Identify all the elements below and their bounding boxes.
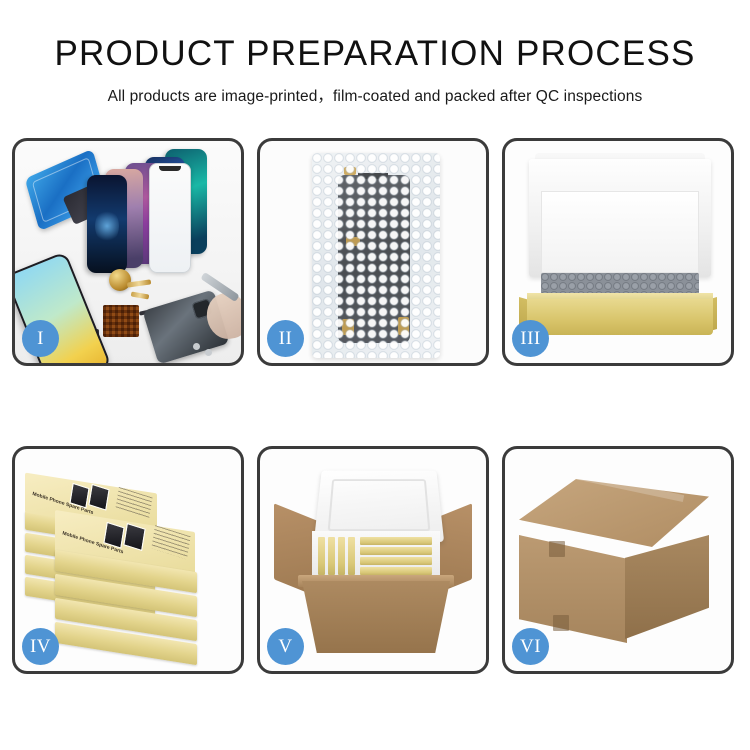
step-panel-5[interactable]: V	[257, 446, 489, 674]
box-thumbnail-4	[123, 523, 145, 551]
carton-front-face-icon	[519, 535, 627, 643]
speaker-coil-icon	[109, 269, 131, 291]
step-badge-1: I	[22, 320, 59, 357]
step-badge-5: V	[267, 628, 304, 665]
step-panel-3[interactable]: III	[502, 138, 734, 366]
box-stack-group: Mobile Phone Spare Parts Mobile Phone Sp…	[23, 465, 233, 661]
page-title: PRODUCT PREPARATION PROCESS	[0, 36, 750, 73]
bubble-wrap-bag-icon	[312, 153, 440, 358]
packed-box-8	[360, 567, 432, 575]
phone-fan-group	[87, 147, 237, 277]
packed-box-2	[328, 537, 335, 575]
carton-tape-2-icon	[553, 615, 569, 631]
step-panel-6[interactable]: VI	[502, 446, 734, 674]
packed-box-6	[360, 547, 432, 555]
step-badge-2: II	[267, 320, 304, 357]
packed-box-1	[318, 537, 325, 575]
packed-box-3	[338, 537, 345, 575]
carton-top-face-icon	[519, 479, 709, 547]
bubble-texture	[312, 153, 440, 358]
step-panel-4[interactable]: Mobile Phone Spare Parts Mobile Phone Sp…	[12, 446, 244, 674]
page-header: PRODUCT PREPARATION PROCESS All products…	[0, 0, 750, 106]
box-spec-lines-upper	[115, 487, 152, 519]
packed-box-5	[360, 537, 432, 545]
carton-side-face-icon	[625, 535, 709, 639]
packed-box-4	[348, 537, 355, 575]
carton-tape-1-icon	[549, 541, 565, 557]
screw-2-icon	[205, 349, 212, 356]
step-panel-1[interactable]: I	[12, 138, 244, 366]
kraft-box-body-icon	[527, 299, 713, 335]
copper-grid-icon	[103, 305, 139, 337]
screen-protector-icon	[149, 163, 191, 273]
foam-sheet-icon	[541, 191, 699, 273]
box-spec-lines-front	[151, 525, 190, 559]
box-thumbnail-2	[88, 484, 109, 511]
step-badge-4: IV	[22, 628, 59, 665]
gold-connector-2-icon	[131, 291, 150, 299]
styrofoam-liner-icon	[312, 531, 440, 579]
page-subtitle: All products are image-printed，film-coat…	[0, 84, 750, 106]
carton-body-icon	[302, 581, 450, 653]
packed-box-7	[360, 557, 432, 565]
step-panel-2[interactable]: II	[257, 138, 489, 366]
step-badge-3: III	[512, 320, 549, 357]
phone-dark-icon	[87, 175, 127, 273]
process-grid: I II III	[12, 138, 738, 674]
screw-icon	[193, 343, 200, 350]
step-badge-6: VI	[512, 628, 549, 665]
